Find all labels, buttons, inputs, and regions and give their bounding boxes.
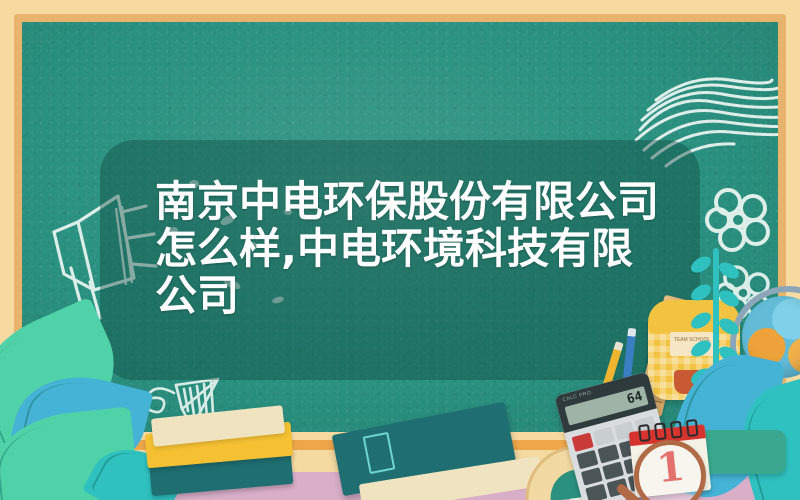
green-desk-box bbox=[700, 430, 786, 474]
banner-canvas: 南京中电环保股份有限公司怎么样,中电环境科技有限公司 TEAM SCHOOL bbox=[0, 0, 800, 500]
calendar-ring bbox=[638, 424, 651, 442]
calculator-key bbox=[585, 484, 607, 500]
calculator-key bbox=[581, 467, 603, 486]
calendar-ring bbox=[686, 419, 699, 437]
frond-leaf bbox=[716, 287, 742, 310]
calculator-key bbox=[593, 427, 615, 446]
calendar-ring bbox=[654, 422, 667, 440]
frond-leaf bbox=[716, 315, 742, 338]
calculator-key bbox=[576, 450, 598, 469]
calendar-ring bbox=[670, 421, 683, 439]
calculator-key bbox=[597, 444, 619, 463]
calculator-key bbox=[572, 433, 594, 452]
frond-leaf bbox=[716, 259, 742, 282]
calculator-key bbox=[602, 461, 624, 480]
page-title: 南京中电环保股份有限公司怎么样,中电环境科技有限公司 bbox=[155, 178, 667, 319]
